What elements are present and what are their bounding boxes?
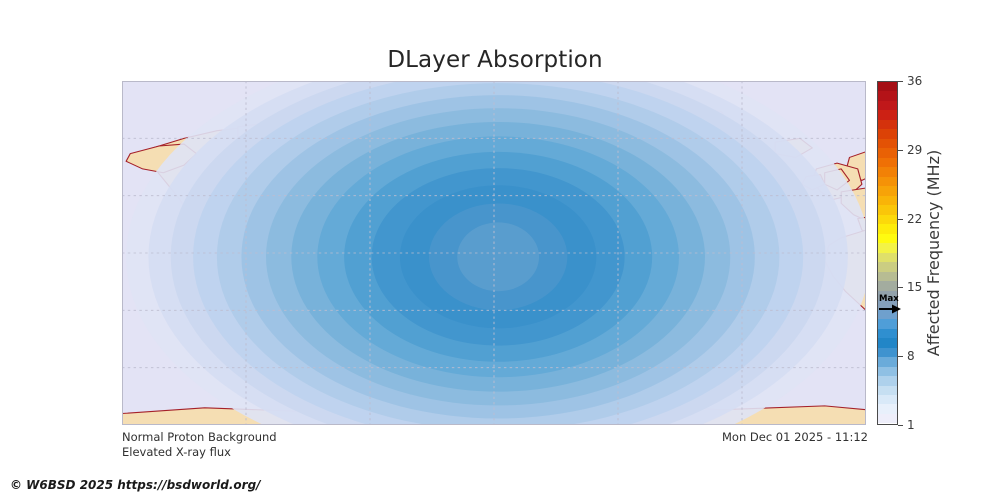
colorbar-tick-mark (898, 287, 903, 288)
colorbar-band-3 (878, 110, 897, 119)
figure-canvas: DLayer Absorption (0, 0, 1000, 500)
colorbar-band-33 (878, 395, 897, 404)
colorbar-band-35 (878, 414, 897, 423)
colorbar-gradient (877, 81, 898, 425)
colorbar-band-7 (878, 148, 897, 157)
colorbar-tick-mark (898, 219, 903, 220)
timestamp-label: Mon Dec 01 2025 - 11:12 (722, 430, 868, 444)
colorbar-band-28 (878, 348, 897, 357)
colorbar-tick-mark (898, 150, 903, 151)
colorbar-band-31 (878, 376, 897, 385)
world-map[interactable] (122, 81, 866, 425)
colorbar-band-1 (878, 91, 897, 100)
colorbar-band-29 (878, 357, 897, 366)
colorbar-band-32 (878, 386, 897, 395)
colorbar-band-14 (878, 215, 897, 224)
colorbar-band-19 (878, 262, 897, 271)
colorbar-tick-mark (898, 356, 903, 357)
colorbar-band-23 (878, 300, 897, 309)
colorbar-tick-label: 1 (907, 418, 915, 432)
colorbar-band-15 (878, 224, 897, 233)
colorbar-band-16 (878, 234, 897, 243)
status-note-proton: Normal Proton Background (122, 430, 277, 444)
colorbar[interactable]: 3629221581 Max (877, 81, 898, 425)
colorbar-band-22 (878, 291, 897, 300)
page-title: DLayer Absorption (0, 47, 990, 73)
colorbar-band-8 (878, 158, 897, 167)
colorbar-tick-mark (898, 425, 903, 426)
credit-line: © W6BSD 2025 https://bsdworld.org/ (10, 478, 261, 492)
status-note-xray: Elevated X-ray flux (122, 445, 231, 459)
colorbar-axis-label: Affected Frequency (MHz) (923, 81, 945, 425)
colorbar-band-12 (878, 196, 897, 205)
colorbar-band-17 (878, 243, 897, 252)
colorbar-band-0 (878, 82, 897, 91)
colorbar-band-18 (878, 253, 897, 262)
colorbar-band-11 (878, 186, 897, 195)
absorption-band-14 (457, 222, 539, 291)
colorbar-tick-label: 29 (907, 143, 922, 157)
colorbar-tick-label: 22 (907, 212, 922, 226)
colorbar-band-20 (878, 272, 897, 281)
colorbar-band-24 (878, 310, 897, 319)
colorbar-tick-label: 36 (907, 74, 922, 88)
colorbar-band-6 (878, 139, 897, 148)
colorbar-band-30 (878, 367, 897, 376)
colorbar-band-27 (878, 338, 897, 347)
colorbar-band-4 (878, 120, 897, 129)
colorbar-band-21 (878, 281, 897, 290)
colorbar-band-2 (878, 101, 897, 110)
colorbar-band-5 (878, 129, 897, 138)
colorbar-band-10 (878, 177, 897, 186)
colorbar-tick-mark (898, 81, 903, 82)
colorbar-band-9 (878, 167, 897, 176)
colorbar-band-34 (878, 404, 897, 413)
colorbar-band-13 (878, 205, 897, 214)
colorbar-band-25 (878, 319, 897, 328)
colorbar-band-26 (878, 329, 897, 338)
map-canvas (122, 81, 866, 425)
colorbar-tick-label: 15 (907, 280, 922, 294)
colorbar-tick-label: 8 (907, 349, 915, 363)
